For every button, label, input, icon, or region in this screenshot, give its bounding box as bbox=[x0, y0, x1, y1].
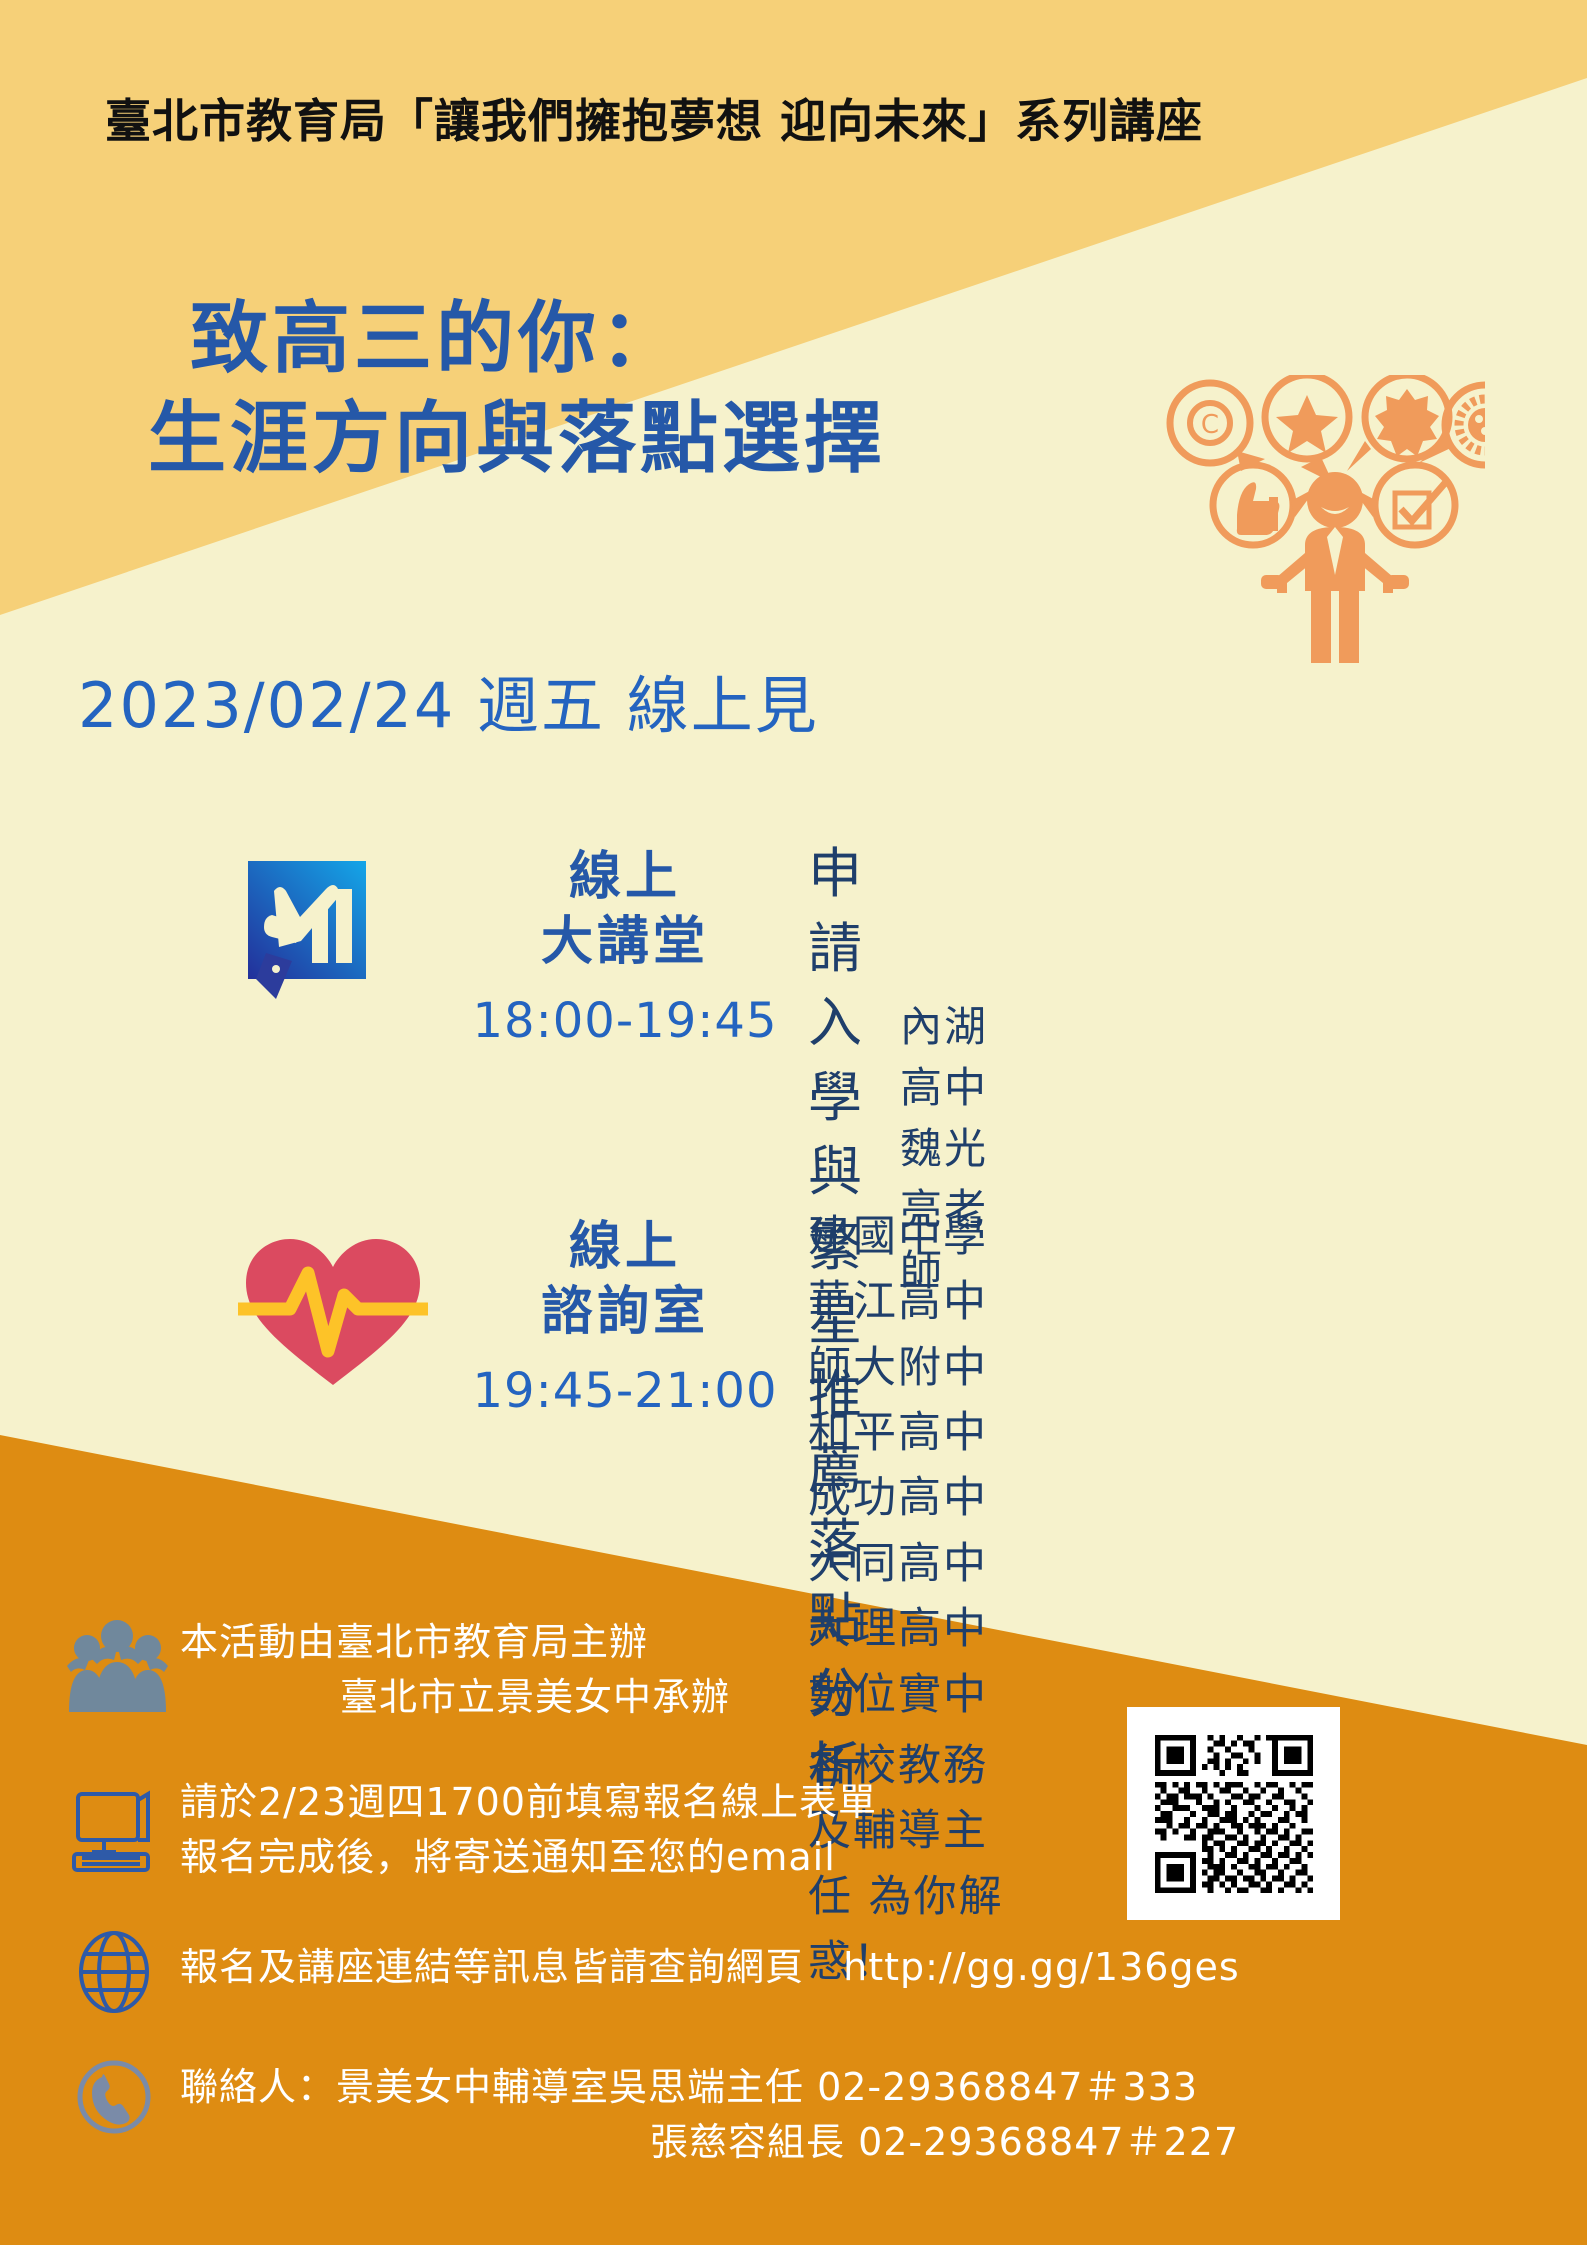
venue-line-1: 線上 bbox=[490, 845, 760, 910]
headline-line-2: 生涯方向與落點選擇 bbox=[148, 390, 886, 490]
venue-line-1: 線上 bbox=[490, 1215, 760, 1280]
venue-line-2: 大講堂 bbox=[490, 910, 760, 975]
globe-icon bbox=[72, 1930, 157, 2020]
page-title: 致高三的你： 生涯方向與落點選擇 bbox=[190, 290, 886, 490]
organizer-line-2: 臺北市立景美女中承辦 bbox=[180, 1670, 730, 1725]
session-lecture-venue: 線上 大講堂 bbox=[490, 845, 760, 975]
heart-pulse-icon bbox=[238, 1233, 428, 1393]
website-label: 報名及講座連結等訊息皆請查詢網頁 bbox=[180, 1945, 804, 1989]
school-name: 成功高中 bbox=[808, 1466, 1013, 1531]
contact-line-1: 聯絡人：景美女中輔導室吳思端主任 02-29368847＃333 bbox=[180, 2060, 1239, 2115]
series-title: 臺北市教育局「讓我們擁抱夢想 迎向未來」系列講座 bbox=[105, 85, 1525, 151]
computer-monitor-icon bbox=[70, 1790, 165, 1880]
session-consultation-venue: 線上 諮詢室 bbox=[490, 1215, 760, 1345]
school-pair-row: 建國中學華江高中 bbox=[808, 1205, 1013, 1336]
phone-icon bbox=[72, 2055, 157, 2145]
headline-line-1: 致高三的你： bbox=[190, 290, 886, 390]
poster-canvas: 臺北市教育局「讓我們擁抱夢想 迎向未來」系列講座 致高三的你： 生涯方向與落點選… bbox=[0, 0, 1587, 2245]
hero-illustration: C bbox=[1165, 375, 1485, 665]
school-name: 大同高中 bbox=[808, 1539, 988, 1589]
school-name: 數位實中 bbox=[808, 1670, 988, 1720]
venue-line-2: 諮詢室 bbox=[490, 1280, 760, 1345]
event-date: 2023/02/24 週五 線上見 bbox=[78, 655, 819, 745]
registration-line-1: 請於2/23週四1700前填寫報名線上表單 bbox=[180, 1775, 877, 1830]
registration-block: 請於2/23週四1700前填寫報名線上表單 報名完成後，將寄送通知至您的emai… bbox=[180, 1775, 877, 1885]
registration-line-2: 報名完成後，將寄送通知至您的email bbox=[180, 1830, 877, 1885]
school-name: 大理高中 bbox=[808, 1597, 1013, 1662]
school-pair-row: 大理高中數位實中 bbox=[808, 1597, 1013, 1728]
qr-code-icon[interactable] bbox=[1127, 1707, 1340, 1920]
checkbox-icon bbox=[1375, 465, 1455, 545]
contact-block: 聯絡人：景美女中輔導室吳思端主任 02-29368847＃333 張慈容組長 0… bbox=[180, 2060, 1239, 2170]
session-consultation-time: 19:45-21:00 bbox=[430, 1363, 820, 1419]
organizer-block: 本活動由臺北市教育局主辦 臺北市立景美女中承辦 bbox=[180, 1615, 730, 1725]
person-figure-icon bbox=[1261, 472, 1409, 663]
website-block: 報名及講座連結等訊息皆請查詢網頁 http://gg.gg/136ges bbox=[180, 1940, 1240, 1995]
school-name: 華江高中 bbox=[808, 1277, 988, 1327]
contact-line-2: 張慈容組長 02-29368847＃227 bbox=[180, 2115, 1239, 2170]
school-pair-row: 師大附中和平高中 bbox=[808, 1336, 1013, 1467]
organizer-line-1: 本活動由臺北市教育局主辦 bbox=[180, 1615, 730, 1670]
school-name: 建國中學 bbox=[808, 1205, 1013, 1270]
website-url[interactable]: http://gg.gg/136ges bbox=[843, 1945, 1240, 1989]
bar-chart-hand-icon bbox=[240, 855, 410, 1015]
people-group-icon bbox=[65, 1620, 170, 1720]
school-pair-row: 成功高中大同高中 bbox=[808, 1466, 1013, 1597]
session-lecture-time: 18:00-19:45 bbox=[430, 993, 820, 1049]
school-name: 師大附中 bbox=[808, 1336, 1013, 1401]
school-name: 和平高中 bbox=[808, 1408, 988, 1458]
svg-text:C: C bbox=[1201, 410, 1219, 440]
